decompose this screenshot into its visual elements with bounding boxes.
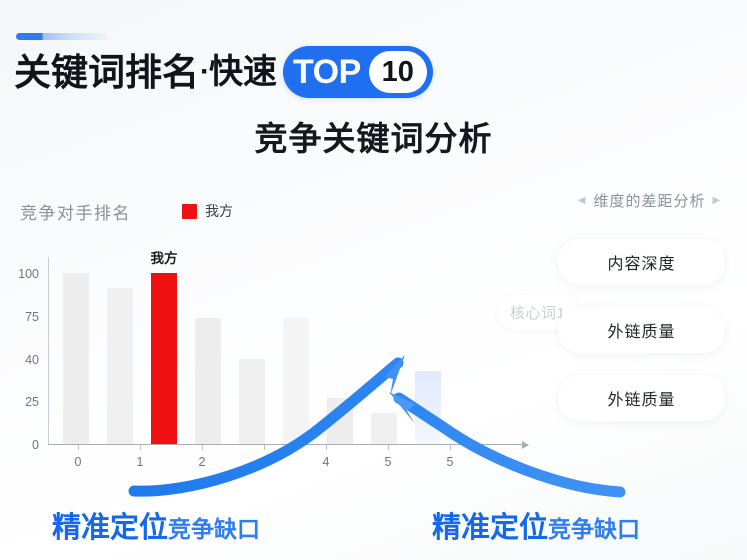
bar bbox=[415, 371, 441, 444]
x-axis-tick-mark bbox=[388, 445, 389, 450]
page-title-sub: 快速 bbox=[209, 55, 277, 89]
x-axis-tick-label: 4 bbox=[323, 455, 330, 469]
x-axis-tick-label: 2 bbox=[199, 455, 206, 469]
chart-title: 竞争对手排名 bbox=[20, 199, 131, 224]
top-badge-word: TOP bbox=[291, 55, 369, 89]
chevron-left-icon[interactable]: ◀ bbox=[578, 196, 587, 206]
caption-left: 精准定位 竞争缺口 bbox=[52, 504, 260, 546]
caption-right-strong: 精准定位 bbox=[432, 504, 548, 546]
x-axis-tick-label: 5 bbox=[447, 455, 454, 469]
top-rank-badge[interactable]: TOP 10 bbox=[283, 46, 433, 98]
x-axis-tick-mark bbox=[326, 445, 327, 450]
x-axis-tick-label: 0 bbox=[75, 455, 82, 469]
x-axis-tick-mark bbox=[450, 445, 451, 450]
x-axis-tick-label: 1 bbox=[137, 455, 144, 469]
x-axis-tick-label: 5 bbox=[385, 455, 392, 469]
caption-left-soft: 竞争缺口 bbox=[168, 510, 260, 544]
caption-right-soft: 竞争缺口 bbox=[548, 510, 640, 544]
bar bbox=[107, 288, 133, 444]
y-axis-line bbox=[48, 257, 49, 445]
chevron-right-icon[interactable]: ▶ bbox=[713, 196, 722, 206]
dimension-pill[interactable]: 外链质量 bbox=[558, 375, 725, 421]
dimension-pill[interactable]: 内容深度 bbox=[558, 239, 725, 285]
dimension-pill[interactable]: 外链质量 bbox=[558, 307, 725, 353]
x-axis-tick-mark bbox=[78, 445, 79, 450]
header-accent-bar bbox=[16, 33, 108, 40]
top-badge-number: 10 bbox=[369, 51, 427, 93]
competitor-chart-panel: 竞争对手排名 我方 1007540250我方0123455 bbox=[0, 185, 545, 485]
bar bbox=[239, 359, 265, 444]
y-axis-tick-label: 75 bbox=[25, 310, 39, 324]
x-axis-tick-label: 3 bbox=[261, 455, 268, 469]
x-axis-tick-mark bbox=[140, 445, 141, 450]
x-axis-tick-mark bbox=[264, 445, 265, 450]
caption-left-strong: 精准定位 bbox=[52, 504, 168, 546]
caption-right: 精准定位 竞争缺口 bbox=[432, 504, 640, 546]
y-axis-tick-label: 25 bbox=[25, 395, 39, 409]
bar bbox=[327, 398, 353, 444]
legend-swatch-mine bbox=[182, 204, 197, 219]
x-axis-tick-mark bbox=[202, 445, 203, 450]
bar bbox=[371, 413, 397, 444]
page-title: 关键词排名 · 快速 bbox=[14, 44, 277, 100]
dimension-gap-title: 维度的差距分析 bbox=[593, 190, 705, 211]
bar bbox=[283, 318, 309, 444]
legend-label-mine: 我方 bbox=[205, 201, 233, 221]
bar bbox=[195, 318, 221, 444]
bar-highlight-mine: 我方 bbox=[151, 273, 177, 444]
x-axis-line bbox=[48, 444, 525, 445]
dimension-gap-header: ◀ 维度的差距分析 ▶ bbox=[552, 190, 747, 211]
y-axis-tick-label: 40 bbox=[25, 353, 39, 367]
chart-legend: 我方 bbox=[182, 201, 233, 221]
page-subtitle: 竞争关键词分析 bbox=[0, 112, 747, 160]
y-axis-tick-label: 0 bbox=[32, 438, 39, 452]
x-axis-arrow-icon bbox=[522, 441, 529, 449]
dimension-gap-panel: ◀ 维度的差距分析 ▶ 内容深度外链质量外链质量 bbox=[552, 190, 747, 443]
y-axis-tick-label: 100 bbox=[18, 267, 39, 281]
bar-label-mine: 我方 bbox=[151, 247, 178, 267]
page-title-main: 关键词排名 bbox=[14, 54, 199, 91]
chart-plot-area: 1007540250我方0123455 bbox=[48, 257, 530, 445]
bar bbox=[63, 273, 89, 444]
